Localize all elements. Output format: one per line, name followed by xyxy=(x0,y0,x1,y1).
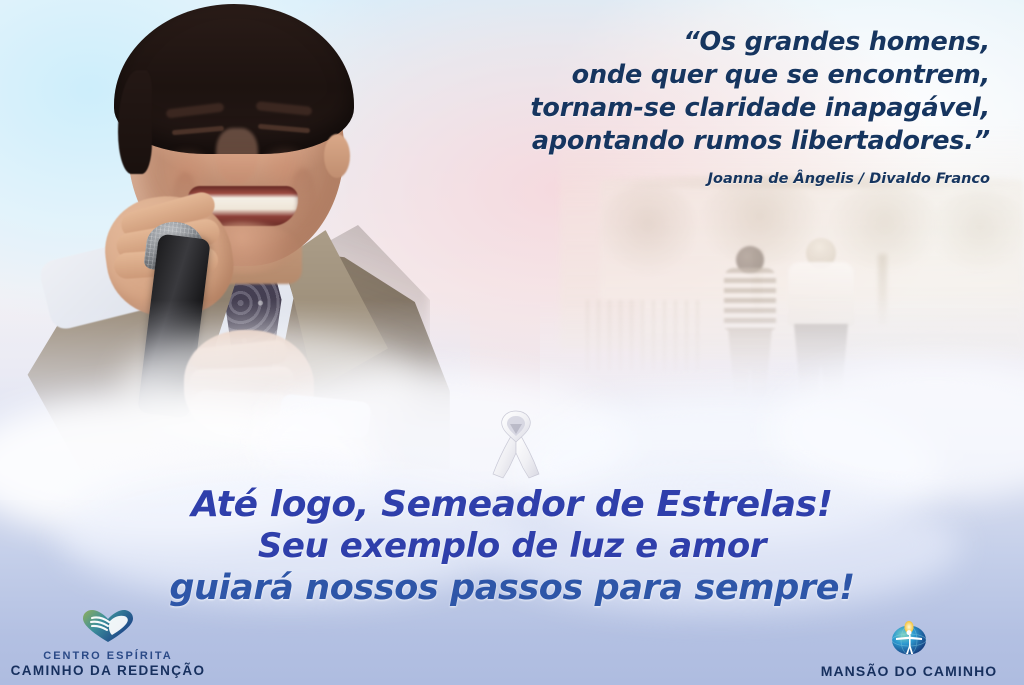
centro-espirita-logo-line-2: CAMINHO DA REDENÇÃO xyxy=(8,663,208,679)
palm-tree-icon xyxy=(600,182,696,274)
quote-line-3: tornam-se claridade inapagável, xyxy=(390,92,990,125)
heart-hands-logo-icon xyxy=(8,609,208,647)
mansao-do-caminho-logo-label: MANSÃO DO CAMINHO xyxy=(804,663,1014,679)
headline-block: Até logo, Semeador de Estrelas! Seu exem… xyxy=(0,484,1024,609)
quote-line-2: onde quer que se encontrem, xyxy=(390,59,990,92)
quote-block: “Os grandes homens, onde quer que se enc… xyxy=(390,26,990,187)
palm-tree-icon xyxy=(930,190,1024,270)
nose xyxy=(216,128,258,184)
centro-espirita-logo: CENTRO ESPÍRITA CAMINHO DA REDENÇÃO xyxy=(8,609,208,679)
headline-line-2: Seu exemplo de luz e amor xyxy=(0,526,1024,567)
headline-line-1: Até logo, Semeador de Estrelas! xyxy=(0,484,1024,526)
quote-line-1: “Os grandes homens, xyxy=(390,26,990,59)
ear xyxy=(324,134,350,178)
headline-line-3: guiará nossos passos para sempre! xyxy=(0,567,1024,609)
quote-line-4: apontando rumos libertadores.” xyxy=(390,125,990,158)
memorial-poster: “Os grandes homens, onde quer que se enc… xyxy=(0,0,1024,685)
centro-espirita-logo-line-1: CENTRO ESPÍRITA xyxy=(8,650,208,663)
quote-attribution: Joanna de Ângelis / Divaldo Franco xyxy=(390,171,990,187)
globe-figure-logo-icon xyxy=(804,618,1014,660)
mansao-do-caminho-logo: MANSÃO DO CAMINHO xyxy=(804,618,1014,679)
mourning-ribbon-icon xyxy=(487,408,545,480)
